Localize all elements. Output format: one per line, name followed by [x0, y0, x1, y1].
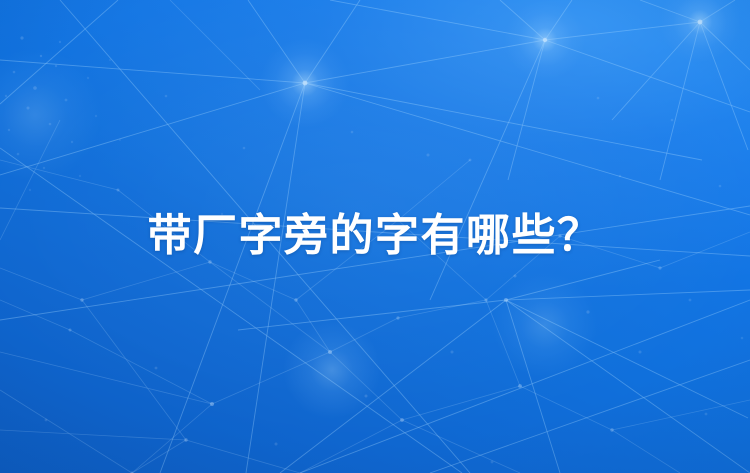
- headline-container: 带厂字旁的字有哪些？: [0, 0, 750, 473]
- page-title: 带厂字旁的字有哪些？: [148, 212, 603, 260]
- banner: 带厂字旁的字有哪些？: [0, 0, 750, 473]
